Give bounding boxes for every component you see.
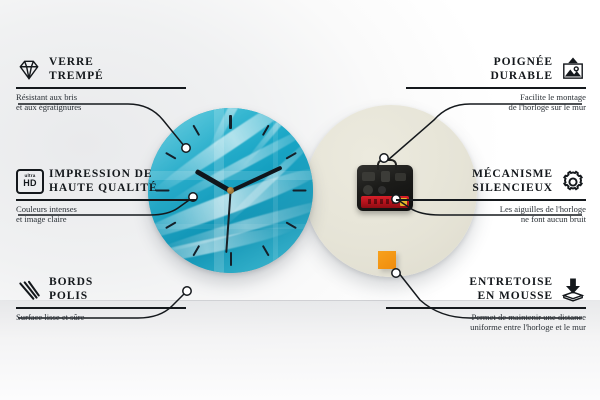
hanger-tab-icon: [377, 159, 397, 170]
feature-bords-polis: BORDS POLIS Surface lisse et sûre: [16, 276, 186, 322]
mechanism-detail: [363, 185, 373, 195]
divider: [396, 199, 586, 201]
mechanism-detail: [381, 171, 390, 182]
divider: [16, 87, 186, 89]
feature-title-line2: SILENCIEUX: [472, 182, 553, 196]
feature-title-line1: IMPRESSION DE: [49, 168, 158, 182]
feature-title-line1: VERRE: [49, 56, 104, 70]
feature-description: Surface lisse et sûre: [16, 312, 186, 323]
mechanism-detail: [378, 186, 386, 194]
feature-title-line2: HAUTE QUALITÉ: [49, 182, 158, 196]
feature-title-line2: EN MOUSSE: [469, 290, 553, 304]
ultra-hd-icon: ultra HD: [16, 169, 42, 195]
foam-spacer: [378, 251, 396, 269]
divider: [386, 307, 586, 309]
feature-title-line1: BORDS: [49, 276, 93, 290]
product-infographic: VERRE TREMPÉ Résistant aux bris et aux é…: [0, 0, 600, 400]
mechanism-detail: [362, 172, 375, 181]
feature-description: Couleurs intenses et image claire: [16, 204, 196, 225]
gear-icon: [560, 169, 586, 195]
feature-title-line2: DURABLE: [490, 70, 553, 84]
feature-description: Permet de maintenir une distance uniform…: [386, 312, 586, 333]
divider: [406, 87, 586, 89]
foam-spacer-icon: [560, 277, 586, 303]
feature-poignee-durable: POIGNÉE DURABLE Facilite le montage de l…: [406, 56, 586, 113]
feature-impression-haute-qualite: ultra HD IMPRESSION DE HAUTE QUALITÉ Cou…: [16, 168, 196, 225]
feature-mecanisme-silencieux: MÉCANISME SILENCIEUX Les aiguilles de l'…: [396, 168, 586, 225]
hand-center-cap: [227, 187, 234, 194]
feature-verre-trempe: VERRE TREMPÉ Résistant aux bris et aux é…: [16, 56, 186, 113]
feature-title-line1: ENTRETOISE: [469, 276, 553, 290]
feature-description: Les aiguilles de l'horloge ne font aucun…: [396, 204, 586, 225]
feature-entretoise-en-mousse: ENTRETOISE EN MOUSSE Permet de maintenir…: [386, 276, 586, 333]
feature-description: Résistant aux bris et aux égratignures: [16, 92, 186, 113]
feature-title-line2: POLIS: [49, 290, 93, 304]
feature-title-line1: POIGNÉE: [490, 56, 553, 70]
battery-label: [368, 199, 397, 204]
ultra-hd-icon-main-label: HD: [23, 179, 37, 188]
feature-description: Facilite le montage de l'horloge sur le …: [406, 92, 586, 113]
picture-hanger-icon: [560, 57, 586, 83]
divider: [16, 307, 186, 309]
divider: [16, 199, 196, 201]
feature-title-line1: MÉCANISME: [472, 168, 553, 182]
polished-edges-icon: [16, 277, 42, 303]
feature-title-line2: TREMPÉ: [49, 70, 104, 84]
diamond-icon: [16, 57, 42, 83]
